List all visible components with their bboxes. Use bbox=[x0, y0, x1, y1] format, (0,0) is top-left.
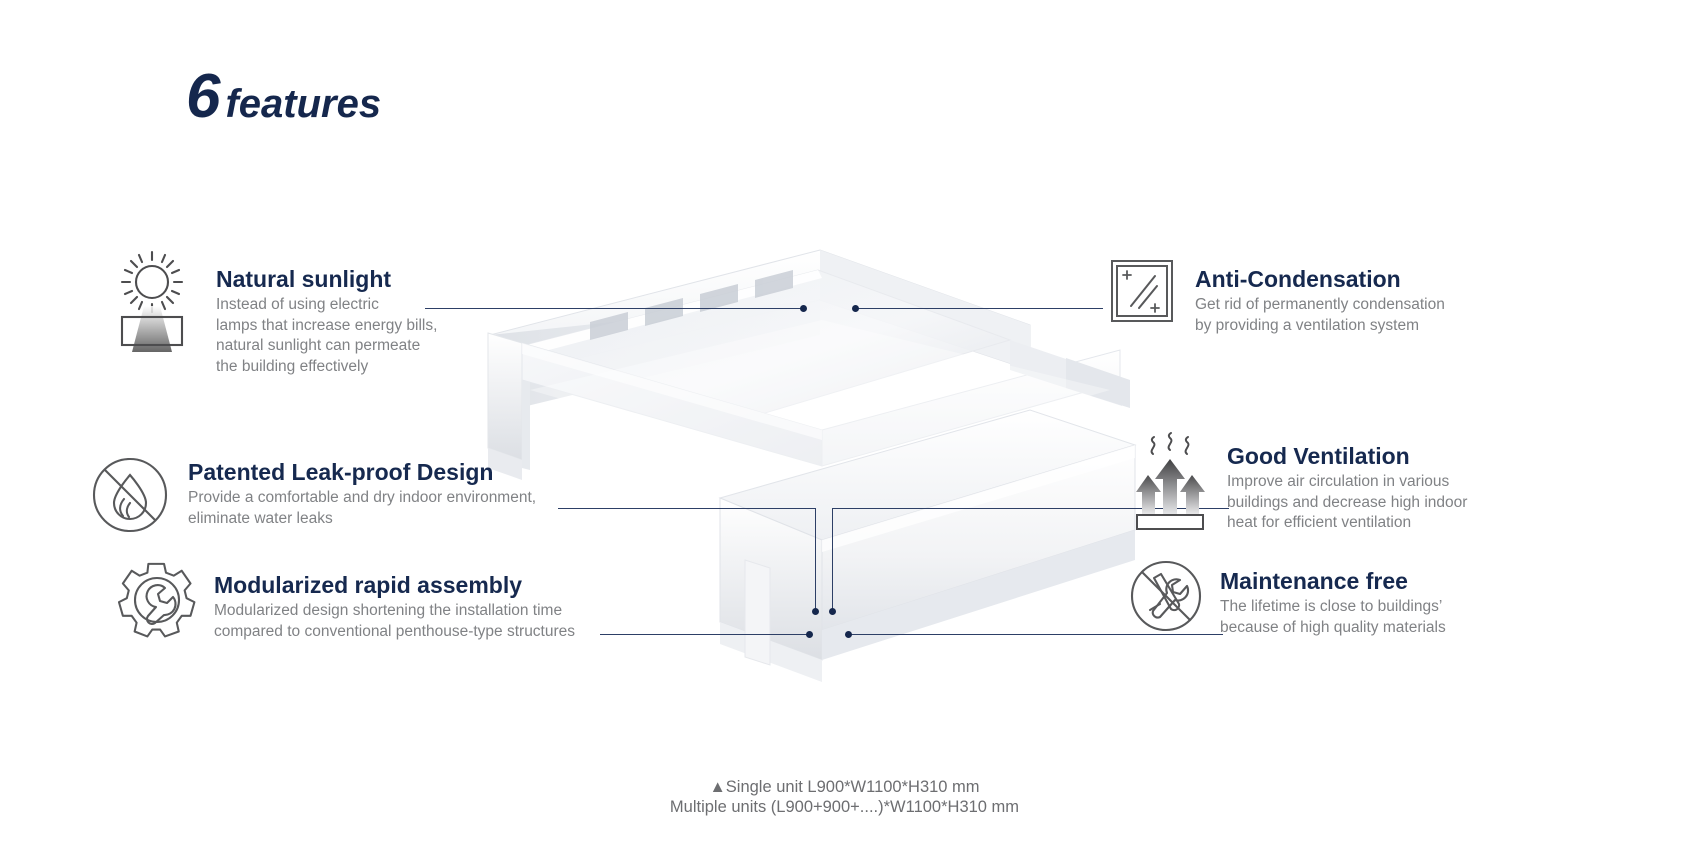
desc-line: Get rid of permanently condensation bbox=[1195, 295, 1445, 316]
feature-text-good-ventilation: Good Ventilation Improve air circulation… bbox=[1227, 443, 1467, 534]
feature-title-good-ventilation: Good Ventilation bbox=[1227, 443, 1467, 469]
desc-line: the building effectively bbox=[216, 357, 437, 378]
desc-line: Improve air circulation in various bbox=[1227, 472, 1467, 493]
connector-line-modular bbox=[600, 634, 812, 635]
feature-good-ventilation: Good Ventilation Improve air circulation… bbox=[1131, 427, 1467, 537]
connector-dot-modular bbox=[806, 631, 813, 638]
connector-line-anticondensation bbox=[855, 308, 1103, 309]
connector-dot-sunlight bbox=[800, 305, 807, 312]
desc-line: The lifetime is close to buildings’ bbox=[1220, 597, 1446, 618]
connector-dot-maintenance bbox=[845, 631, 852, 638]
title-word: features bbox=[225, 82, 381, 126]
page-title: 6features bbox=[186, 66, 381, 128]
feature-text-modularized-rapid-assembly: Modularized rapid assembly Modularized d… bbox=[214, 572, 575, 642]
sun-lamp-icon bbox=[108, 244, 196, 364]
connector-dot-leakproof bbox=[812, 608, 819, 615]
feature-title-modularized-rapid-assembly: Modularized rapid assembly bbox=[214, 572, 575, 598]
connector-dot-ventilation bbox=[829, 608, 836, 615]
feature-title-anti-condensation: Anti-Condensation bbox=[1195, 266, 1445, 292]
desc-line: because of high quality materials bbox=[1220, 618, 1446, 639]
feature-text-anti-condensation: Anti-Condensation Get rid of permanently… bbox=[1195, 266, 1445, 336]
no-water-drop-icon bbox=[90, 455, 170, 540]
desc-line: lamps that increase energy bills, bbox=[216, 316, 437, 337]
feature-text-maintenance-free: Maintenance free The lifetime is close t… bbox=[1220, 568, 1446, 638]
desc-line: Provide a comfortable and dry indoor env… bbox=[188, 488, 536, 509]
feature-desc-natural-sunlight: Instead of using electric lamps that inc… bbox=[216, 295, 437, 377]
dimensions-caption: ▲Single unit L900*W1100*H310 mm Multiple… bbox=[0, 777, 1689, 817]
caption-line-single-unit: ▲Single unit L900*W1100*H310 mm bbox=[0, 777, 1689, 797]
feature-patented-leak-proof-design: Patented Leak-proof Design Provide a com… bbox=[90, 455, 536, 540]
feature-maintenance-free: Maintenance free The lifetime is close t… bbox=[1128, 558, 1446, 639]
connector-line-sunlight bbox=[425, 308, 803, 309]
desc-line: natural sunlight can permeate bbox=[216, 336, 437, 357]
feature-desc-patented-leak-proof-design: Provide a comfortable and dry indoor env… bbox=[188, 488, 536, 529]
title-number: 6 bbox=[186, 62, 219, 131]
feature-title-maintenance-free: Maintenance free bbox=[1220, 568, 1446, 594]
connector-dot-anticondensation bbox=[852, 305, 859, 312]
desc-line: eliminate water leaks bbox=[188, 509, 536, 530]
desc-line: Instead of using electric bbox=[216, 295, 437, 316]
airflow-arrows-icon bbox=[1131, 427, 1209, 537]
feature-text-natural-sunlight: Natural sunlight Instead of using electr… bbox=[216, 266, 437, 377]
connector-line-leakproof-vertical bbox=[815, 508, 816, 613]
desc-line: compared to conventional penthouse-type … bbox=[214, 622, 575, 643]
feature-natural-sunlight: Natural sunlight Instead of using electr… bbox=[108, 244, 437, 377]
feature-desc-maintenance-free: The lifetime is close to buildings’ beca… bbox=[1220, 597, 1446, 638]
desc-line: buildings and decrease high indoor bbox=[1227, 493, 1467, 514]
connector-line-leakproof bbox=[558, 508, 815, 509]
feature-modularized-rapid-assembly: Modularized rapid assembly Modularized d… bbox=[118, 560, 575, 645]
feature-anti-condensation: Anti-Condensation Get rid of permanently… bbox=[1109, 258, 1445, 336]
feature-title-natural-sunlight: Natural sunlight bbox=[216, 266, 437, 292]
desc-line: heat for efficient ventilation bbox=[1227, 513, 1467, 534]
window-condensation-icon bbox=[1109, 258, 1175, 329]
feature-desc-modularized-rapid-assembly: Modularized design shortening the instal… bbox=[214, 601, 575, 642]
feature-title-patented-leak-proof-design: Patented Leak-proof Design bbox=[188, 459, 536, 485]
caption-line-multiple-units: Multiple units (L900+900+....)*W1100*H31… bbox=[0, 797, 1689, 817]
feature-desc-anti-condensation: Get rid of permanently condensation by p… bbox=[1195, 295, 1445, 336]
feature-text-patented-leak-proof-design: Patented Leak-proof Design Provide a com… bbox=[188, 459, 536, 529]
connector-line-ventilation-vertical bbox=[832, 508, 833, 613]
desc-line: by providing a ventilation system bbox=[1195, 316, 1445, 337]
feature-desc-good-ventilation: Improve air circulation in various build… bbox=[1227, 472, 1467, 534]
no-tools-icon bbox=[1128, 558, 1204, 639]
desc-line: Modularized design shortening the instal… bbox=[214, 601, 575, 622]
gear-wrench-icon bbox=[118, 560, 198, 645]
